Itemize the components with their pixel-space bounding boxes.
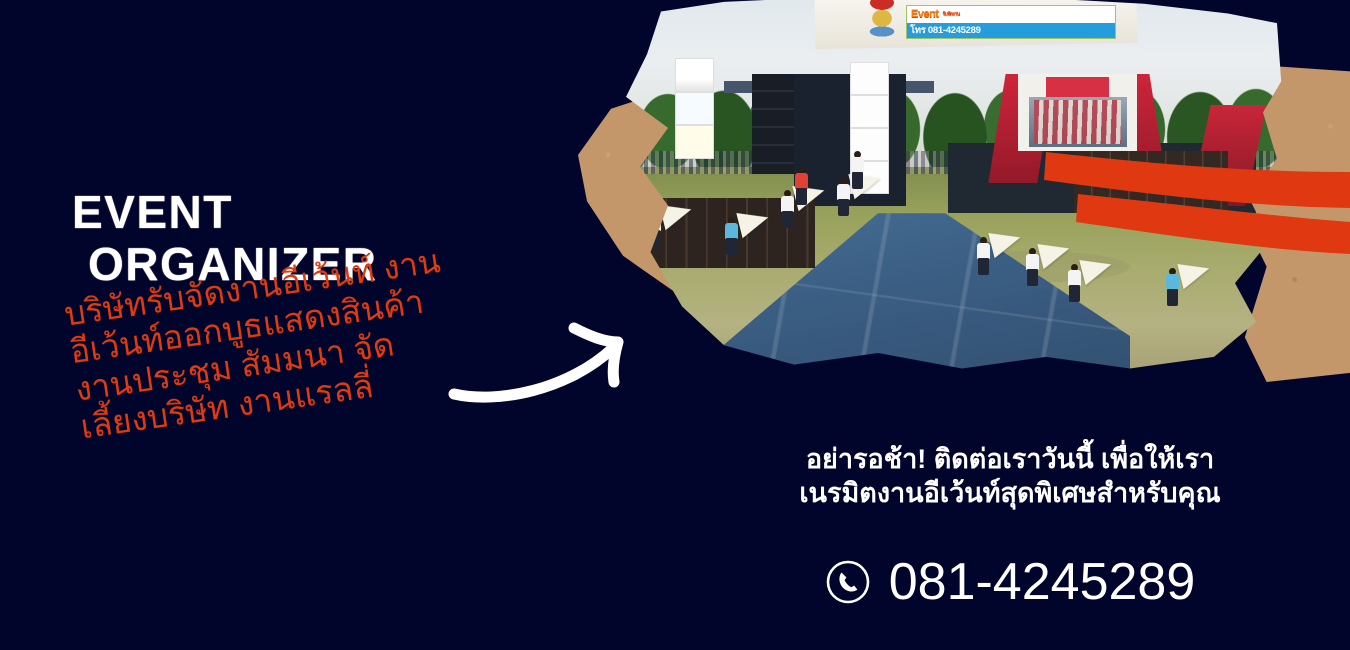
cta-line-2: เนรมิตงานอีเว้นท์สุดพิเศษสำหรับคุณ xyxy=(700,476,1320,510)
phone-number: 081-4245289 xyxy=(889,552,1196,612)
contact-phone[interactable]: 081-4245289 xyxy=(700,552,1320,612)
event-photo-collage: Event รับจัดงาน โทร 081-4245289 xyxy=(578,0,1350,388)
event-organizer-banner: EVENT ORGANIZER บริษัทรับจัดงานอีเว้นท์ … xyxy=(0,0,1350,650)
phone-handset-icon xyxy=(825,559,871,605)
headline-line-1: EVENT xyxy=(72,186,378,238)
red-marker-strokes xyxy=(578,0,1350,388)
cta-line-1: อย่ารอช้า! ติดต่อเราวันนี้ เพื่อให้เรา xyxy=(700,442,1320,476)
cta-text: อย่ารอช้า! ติดต่อเราวันนี้ เพื่อให้เรา เ… xyxy=(700,442,1320,510)
